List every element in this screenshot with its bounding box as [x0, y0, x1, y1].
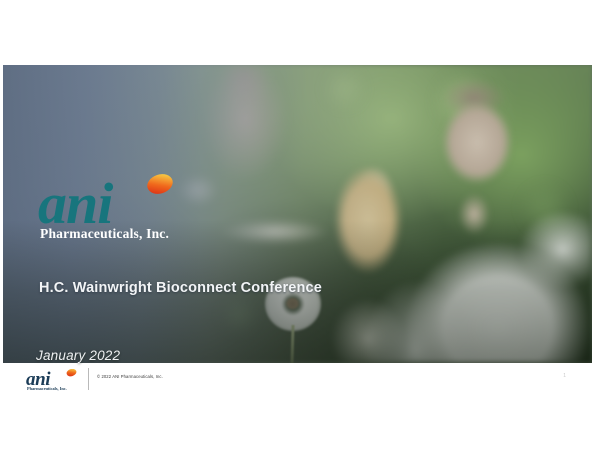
page-title: H.C. Wainwright Bioconnect Conference	[39, 280, 322, 296]
presentation-slide: ani Pharmaceuticals, Inc. H.C. Wainwrigh…	[3, 65, 592, 396]
slide-footer: ani Pharmaceuticals, Inc. © 2022 ANI Pha…	[3, 363, 592, 396]
page-number: 1	[563, 373, 566, 379]
footer-ani-logo: ani Pharmaceuticals, Inc.	[25, 369, 81, 391]
ani-logo-tagline: Pharmaceuticals, Inc.	[40, 226, 169, 241]
footer-logo-tagline: Pharmaceuticals, Inc.	[27, 386, 67, 391]
slide-date: January 2022	[36, 348, 120, 363]
ani-logo-dot	[145, 173, 176, 197]
footer-logo-dot	[66, 369, 78, 378]
copyright-notice: © 2022 ANI Pharmaceuticals, Inc.	[97, 374, 163, 379]
footer-divider	[88, 368, 89, 390]
ani-logo: ani Pharmaceuticals, Inc.	[36, 173, 186, 243]
